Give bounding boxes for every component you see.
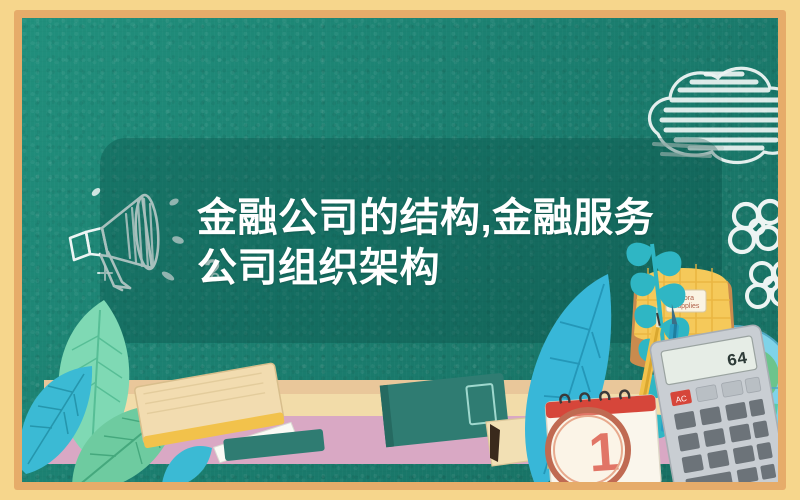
book-stack-left: [22, 348, 318, 478]
chalkboard-surface: 2: [22, 18, 778, 482]
calendar-with-magnifier: 1: [530, 380, 690, 482]
poster-canvas: 2: [0, 0, 800, 500]
calculator-display: 64: [726, 350, 749, 372]
